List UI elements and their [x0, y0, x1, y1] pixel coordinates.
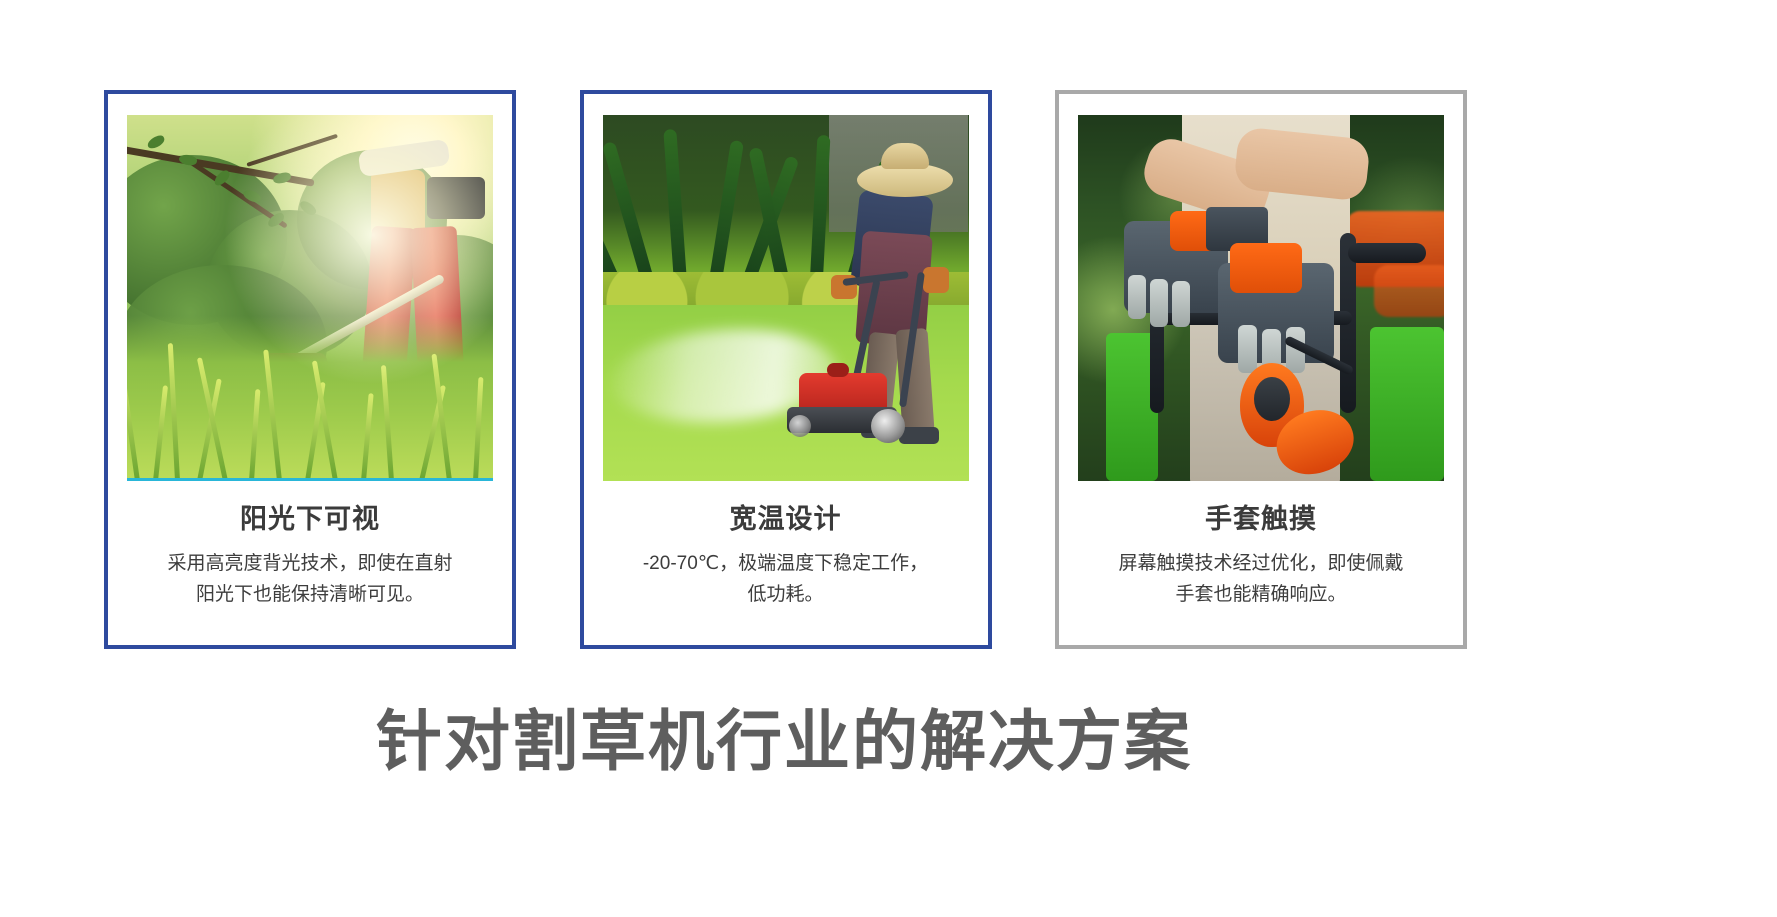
straw-hat-crown: [881, 143, 929, 169]
page-root: 阳光下可视 采用高亮度背光技术，即使在直射阳光下也能保持清晰可见。: [0, 0, 1777, 917]
card-text-block: 宽温设计 -20-70℃，极端温度下稳定工作，低功耗。: [603, 481, 969, 611]
machine-blur-orange: [1374, 265, 1444, 317]
card-image-sunlight-visibility: [127, 115, 493, 481]
card-description: -20-70℃，极端温度下稳定工作，低功耗。: [636, 549, 936, 611]
mower-wheel-rear: [871, 409, 905, 443]
mower-engine-cap: [827, 363, 849, 377]
feature-card-wide-temperature[interactable]: 宽温设计 -20-70℃，极端温度下稳定工作，低功耗。: [580, 90, 992, 649]
card-title: 阳光下可视: [127, 503, 493, 535]
glove-finger: [1150, 279, 1168, 327]
worker-glove-right: [923, 267, 949, 293]
worker-shoe-right: [899, 427, 939, 444]
feature-card-sunlight-visibility[interactable]: 阳光下可视 采用高亮度背光技术，即使在直射阳光下也能保持清晰可见。: [104, 90, 516, 649]
card-title: 宽温设计: [603, 503, 969, 535]
card-image-wide-temperature: [603, 115, 969, 481]
card-text-block: 阳光下可视 采用高亮度背光技术，即使在直射阳光下也能保持清晰可见。: [127, 481, 493, 611]
feature-card-glove-touch[interactable]: 手套触摸 屏幕触摸技术经过优化，即使佩戴手套也能精确响应。: [1055, 90, 1467, 649]
card-text-block: 手套触摸 屏幕触摸技术经过优化，即使佩戴手套也能精确响应。: [1078, 481, 1444, 611]
mower-grip: [1348, 243, 1426, 263]
scene-lawn-mower: [603, 115, 969, 481]
glove-right-orange-panel: [1230, 243, 1302, 293]
glove-finger: [1128, 275, 1146, 319]
card-image-glove-touch: [1078, 115, 1444, 481]
scene-sunlit-trimmer: [127, 115, 493, 481]
ear-defender-cushion: [1254, 377, 1290, 421]
glove-finger: [1238, 325, 1257, 373]
mower-wheel-front: [789, 415, 811, 437]
card-title: 手套触摸: [1078, 503, 1444, 535]
card-description: 采用高亮度背光技术，即使在直射阳光下也能保持清晰可见。: [160, 549, 460, 611]
card-description: 屏幕触摸技术经过优化，即使佩戴手套也能精确响应。: [1111, 549, 1411, 611]
scene-gloved-hands: [1078, 115, 1444, 481]
mower-panel-right: [1370, 327, 1444, 481]
glove-finger: [1172, 281, 1190, 327]
page-headline: 针对割草机行业的解决方案: [0, 700, 1568, 783]
image-accent-line: [127, 478, 493, 481]
feature-card-row: 阳光下可视 采用高亮度背光技术，即使在直射阳光下也能保持清晰可见。: [104, 90, 1467, 650]
